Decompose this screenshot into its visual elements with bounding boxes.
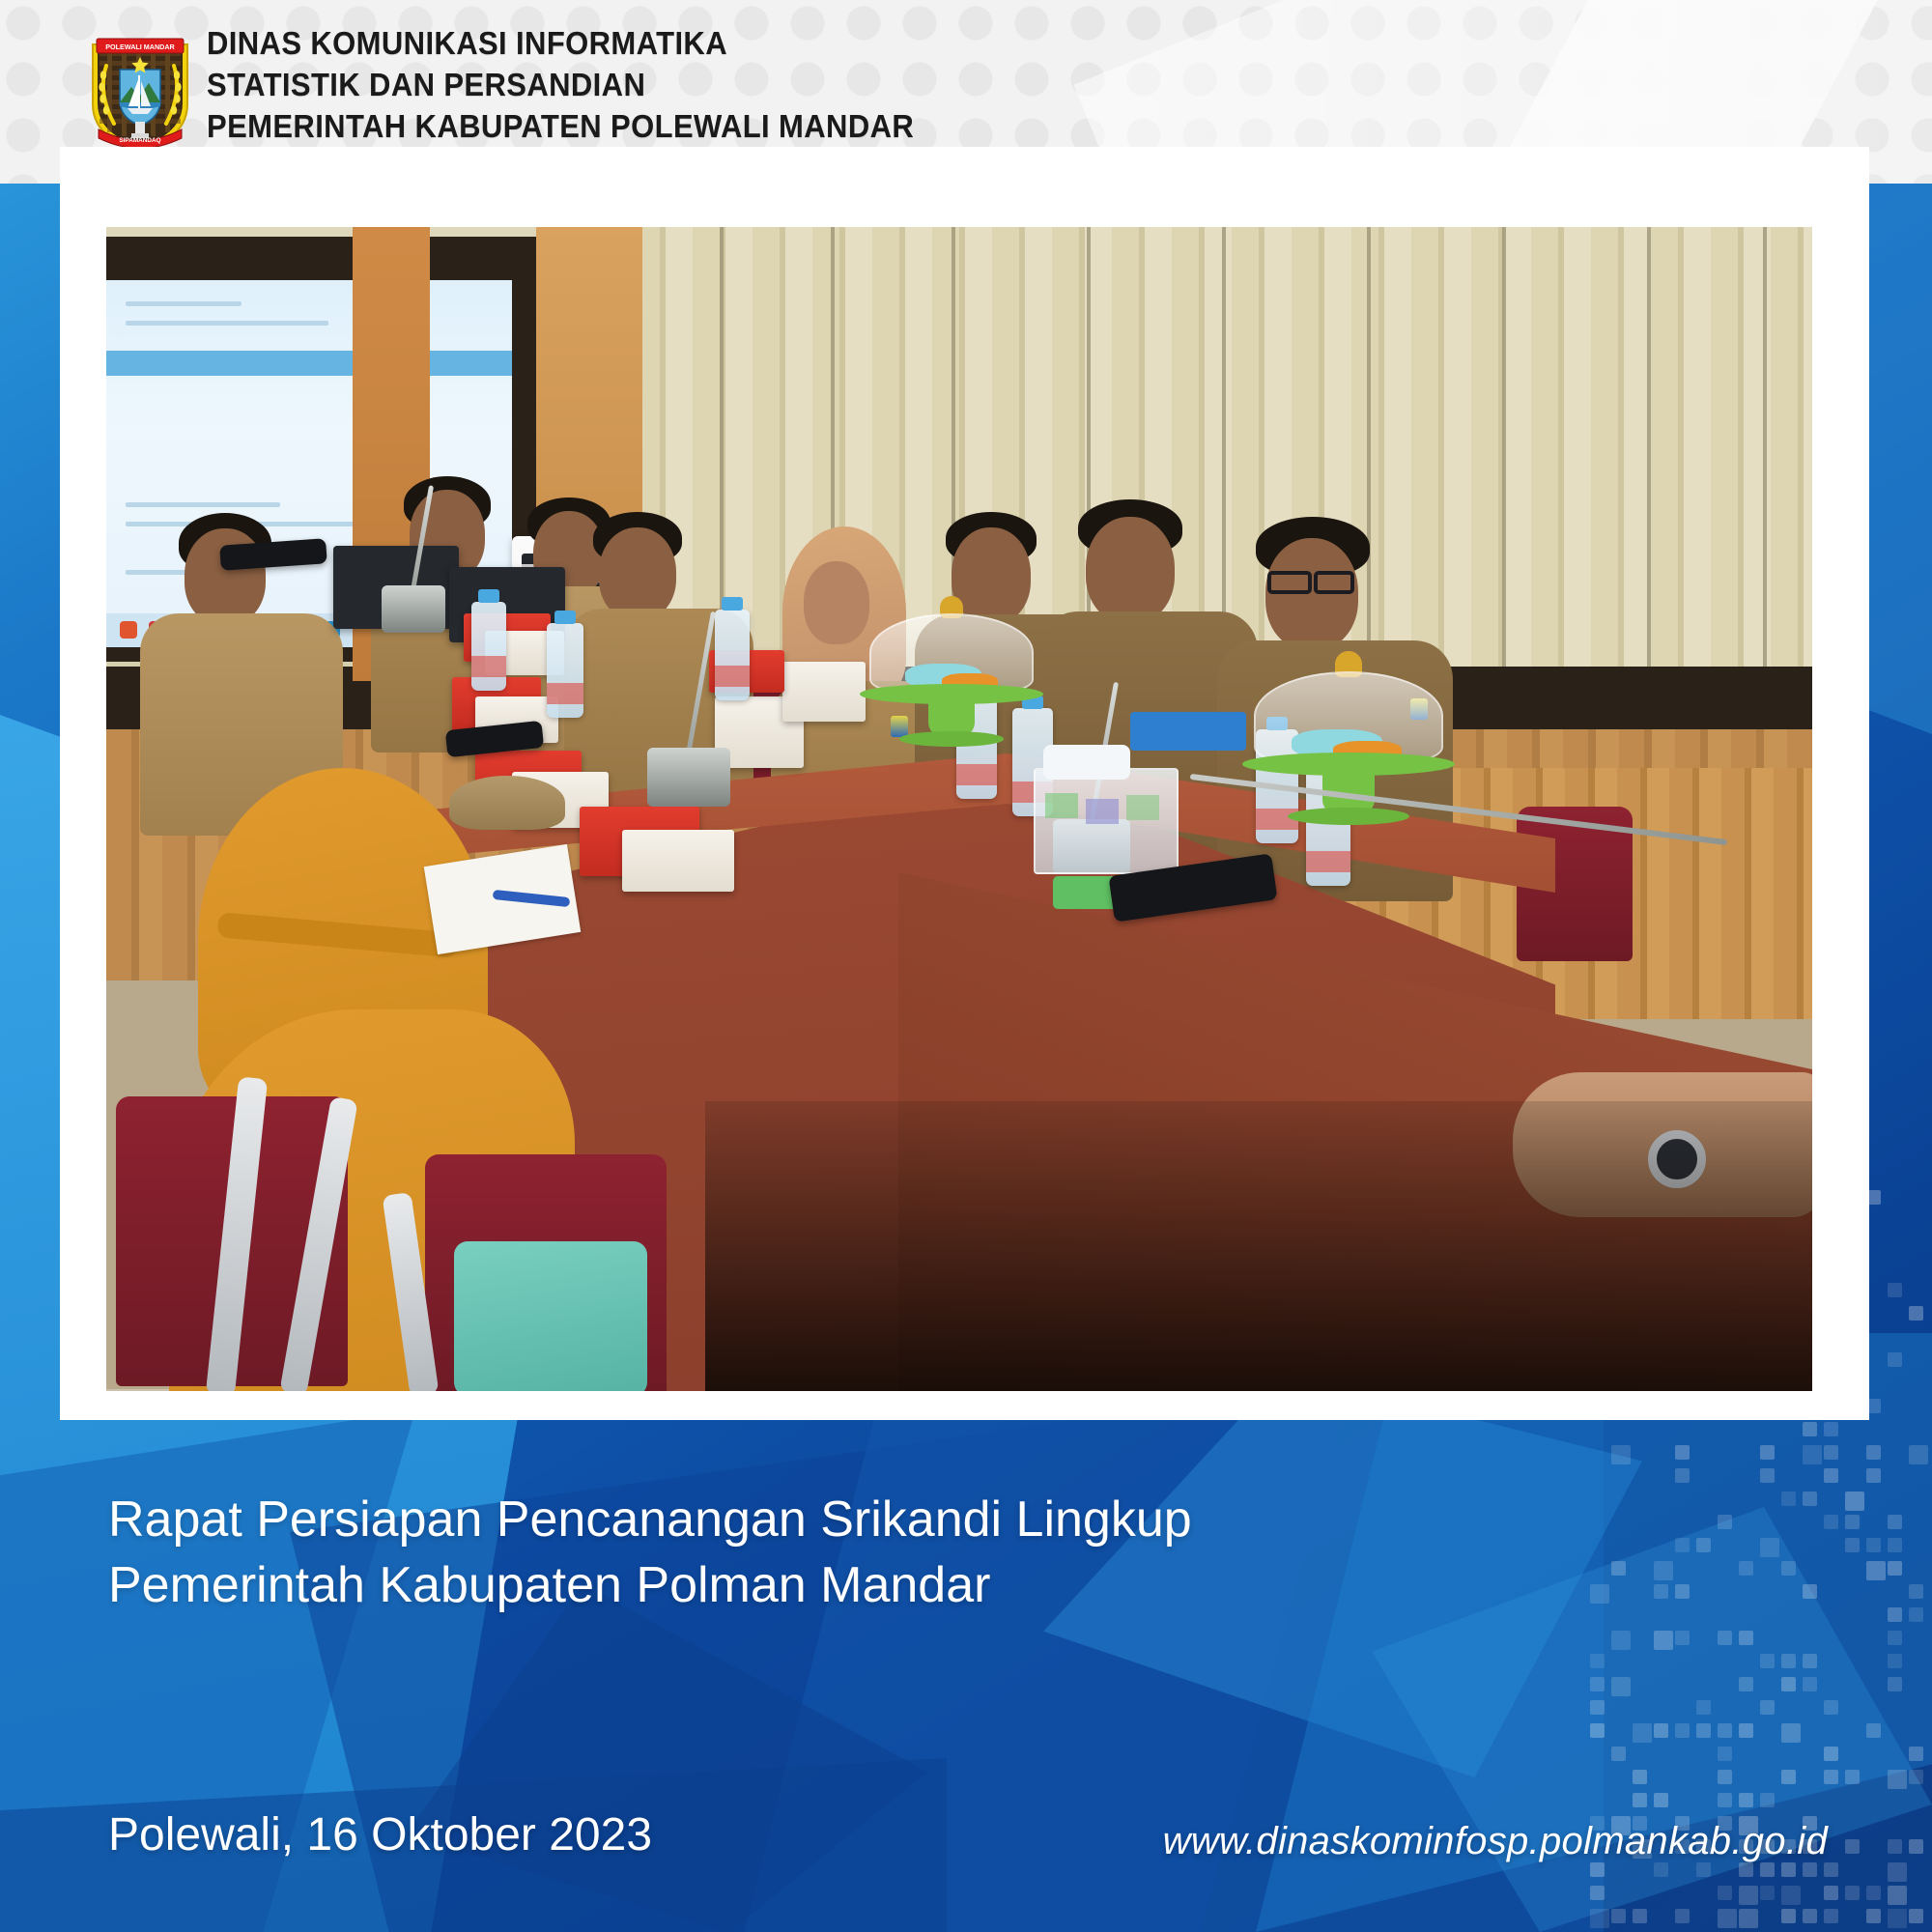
decoration-square <box>1760 1700 1775 1715</box>
decoration-square <box>1845 1886 1860 1900</box>
decoration-square <box>1675 1909 1690 1923</box>
decoration-square <box>1781 1561 1796 1576</box>
decoration-square <box>1888 1607 1902 1622</box>
decoration-square <box>1718 1793 1732 1807</box>
photo-water-bottle <box>471 602 506 691</box>
decoration-square <box>1760 1445 1775 1460</box>
decoration-square <box>1866 1886 1881 1900</box>
decoration-square <box>1845 1839 1860 1854</box>
decoration-square <box>1866 1909 1881 1923</box>
decoration-square <box>1718 1770 1732 1784</box>
decoration-square <box>1675 1723 1690 1738</box>
decoration-square <box>1803 1909 1817 1923</box>
decoration-square <box>1866 1561 1886 1580</box>
decoration-square <box>1824 1445 1838 1460</box>
decoration-square <box>1739 1862 1753 1877</box>
decoration-square <box>1696 1700 1711 1715</box>
decoration-square <box>1739 1723 1753 1738</box>
decoration-square <box>1633 1723 1652 1743</box>
decoration-square <box>1739 1909 1758 1928</box>
decoration-square <box>1781 1677 1796 1691</box>
decoration-square <box>1888 1631 1902 1645</box>
event-caption: Rapat Persiapan Pencanangan Srikandi Lin… <box>108 1488 1461 1618</box>
decoration-square <box>1888 1770 1907 1789</box>
decoration-square <box>1888 1561 1902 1576</box>
decoration-square <box>1739 1886 1758 1905</box>
organization-title: DINAS KOMUNIKASI INFORMATIKA STATISTIK D… <box>207 23 959 148</box>
decoration-square <box>1654 1862 1668 1877</box>
decoration-square <box>1909 1839 1923 1854</box>
decoration-square <box>1718 1515 1732 1529</box>
decoration-square <box>1760 1654 1775 1668</box>
decoration-square <box>1781 1909 1796 1923</box>
decoration-square <box>1845 1770 1860 1784</box>
logo-motto-text: SIPAMANDAQ <box>119 137 160 144</box>
decoration-square <box>1845 1515 1860 1529</box>
logo-banner-text: POLEWALI MANDAR <box>105 43 175 51</box>
decoration-square <box>1611 1909 1626 1923</box>
poster-canvas: POLEWALI MANDAR <box>0 0 1932 1932</box>
decoration-square <box>1803 1677 1817 1691</box>
decoration-square <box>1824 1747 1838 1761</box>
decoration-square <box>1739 1561 1753 1576</box>
decoration-square <box>1824 1886 1838 1900</box>
decoration-square <box>1888 1538 1902 1552</box>
decoration-square <box>1590 1886 1605 1900</box>
decoration-square <box>1675 1631 1690 1645</box>
decoration-square <box>1845 1492 1864 1511</box>
decoration-square <box>1718 1747 1732 1761</box>
decoration-square <box>1781 1770 1796 1784</box>
decoration-square <box>1590 1909 1609 1928</box>
decoration-square <box>1611 1747 1626 1761</box>
decoration-square <box>1654 1584 1668 1599</box>
decoration-square <box>1781 1862 1796 1877</box>
photo-water-bottle <box>547 623 583 718</box>
decoration-square <box>1633 1909 1647 1923</box>
decoration-square <box>1803 1654 1817 1668</box>
decoration-square <box>1845 1538 1860 1552</box>
decoration-square <box>1696 1723 1711 1738</box>
decoration-square <box>1654 1561 1673 1580</box>
decoration-square <box>1888 1909 1907 1928</box>
decoration-square <box>1654 1793 1668 1807</box>
decoration-square <box>1824 1422 1838 1436</box>
decoration-square <box>1718 1886 1732 1900</box>
decoration-square <box>1654 1631 1673 1650</box>
decoration-square <box>1739 1793 1753 1807</box>
decoration-square <box>1888 1283 1902 1297</box>
decoration-square <box>1888 1352 1902 1367</box>
decoration-square <box>1675 1445 1690 1460</box>
decoration-square <box>1803 1584 1817 1599</box>
decoration-square <box>1803 1445 1822 1464</box>
decoration-square <box>1803 1862 1817 1877</box>
photo-teal-bag <box>454 1241 647 1391</box>
org-line-3: PEMERINTAH KABUPATEN POLEWALI MANDAR <box>207 106 914 148</box>
photo-snack-box <box>622 830 734 892</box>
org-line-2: STATISTIK DAN PERSANDIAN <box>207 65 914 106</box>
polewali-mandar-coat-of-arms-icon: POLEWALI MANDAR <box>83 29 197 155</box>
decoration-square <box>1675 1538 1690 1552</box>
decoration-square <box>1909 1909 1923 1923</box>
decoration-square <box>1633 1793 1647 1807</box>
decoration-square <box>1760 1468 1775 1483</box>
decoration-square <box>1888 1677 1902 1691</box>
decoration-square <box>1824 1909 1838 1923</box>
decoration-square <box>1611 1631 1631 1650</box>
decoration-square <box>1760 1538 1779 1557</box>
place-and-date: Polewali, 16 Oktober 2023 <box>108 1808 652 1861</box>
decoration-square <box>1590 1700 1605 1715</box>
decoration-square <box>1675 1584 1690 1599</box>
decoration-square <box>1611 1561 1626 1576</box>
decoration-square <box>1909 1607 1923 1622</box>
decoration-square <box>1590 1862 1605 1877</box>
photo-cake-stand <box>869 613 1034 739</box>
decoration-square <box>1803 1422 1817 1436</box>
decoration-square <box>1824 1700 1838 1715</box>
decoration-square <box>1781 1886 1801 1905</box>
decoration-square <box>1590 1584 1609 1604</box>
decoration-square <box>1888 1839 1902 1854</box>
decoration-square <box>1590 1723 1605 1738</box>
decoration-square <box>1696 1538 1711 1552</box>
decoration-square <box>1590 1677 1605 1691</box>
org-line-1: DINAS KOMUNIKASI INFORMATIKA <box>207 23 914 65</box>
decoration-square <box>1739 1677 1753 1691</box>
decoration-square <box>1803 1492 1817 1506</box>
decoration-square <box>1718 1723 1732 1738</box>
photo-blue-folder <box>1130 712 1246 751</box>
decoration-square <box>1909 1584 1923 1599</box>
decoration-square <box>1611 1445 1631 1464</box>
decoration-square <box>1888 1886 1907 1905</box>
decoration-square <box>1888 1654 1902 1668</box>
photo-screen-highlight-bar <box>106 351 512 376</box>
photo-uniform-cap <box>449 776 565 830</box>
decoration-square <box>1909 1445 1928 1464</box>
decoration-square <box>1654 1723 1668 1738</box>
photo-microphone <box>382 507 445 633</box>
decoration-square <box>1888 1862 1907 1882</box>
decoration-square <box>1760 1886 1775 1900</box>
photo-tissue-holder <box>1034 768 1179 874</box>
decoration-square <box>1760 1793 1775 1807</box>
decoration-square <box>1866 1723 1881 1738</box>
decoration-square <box>1739 1631 1753 1645</box>
website-url[interactable]: www.dinaskominfosp.polmankab.go.id <box>1163 1820 1828 1863</box>
decoration-square <box>1909 1306 1923 1321</box>
decoration-square <box>1781 1723 1801 1743</box>
decoration-square <box>1888 1515 1902 1529</box>
decoration-square <box>1824 1770 1838 1784</box>
decoration-square <box>1696 1862 1711 1877</box>
decoration-square <box>1909 1747 1923 1761</box>
decoration-square <box>1781 1654 1796 1668</box>
decoration-square <box>1824 1515 1838 1529</box>
decoration-square <box>1866 1445 1881 1460</box>
decoration-square <box>1866 1538 1881 1552</box>
photo-shadow-area <box>705 1101 1812 1391</box>
caption-line-2: Pemerintah Kabupaten Polman Mandar <box>108 1553 1461 1619</box>
decoration-square <box>1760 1862 1775 1877</box>
decoration-square <box>1824 1862 1838 1877</box>
caption-line-1: Rapat Persiapan Pencanangan Srikandi Lin… <box>108 1488 1461 1553</box>
meeting-photograph: MOVING FORWARD TOGETHER <box>106 227 1812 1391</box>
decoration-square <box>1611 1677 1631 1696</box>
decoration-square <box>1590 1654 1605 1668</box>
decoration-square <box>1675 1468 1690 1483</box>
decoration-square <box>1824 1468 1838 1483</box>
decoration-square <box>1781 1492 1796 1506</box>
decoration-square <box>1718 1909 1737 1928</box>
decoration-square <box>1909 1770 1923 1784</box>
decoration-square <box>1633 1770 1647 1784</box>
decoration-square <box>1718 1631 1732 1645</box>
decoration-square <box>1866 1468 1881 1483</box>
photo-microphone <box>647 652 730 807</box>
photo-snack-box <box>782 662 866 722</box>
